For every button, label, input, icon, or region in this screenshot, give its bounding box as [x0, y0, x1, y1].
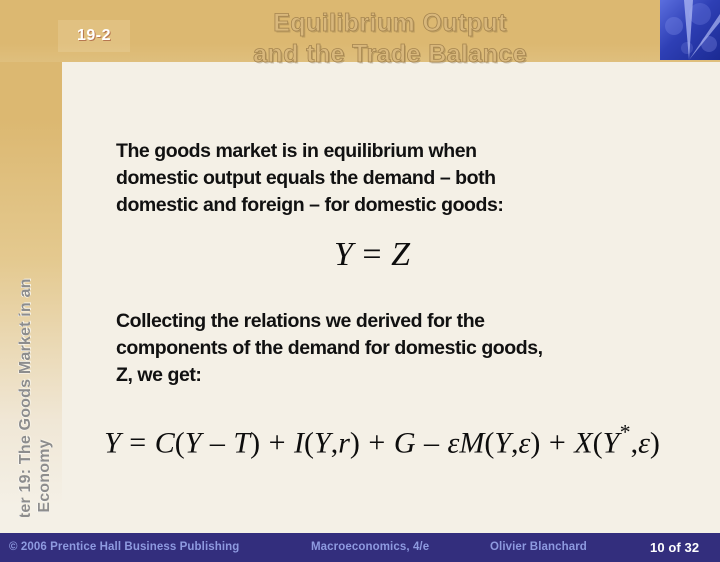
slide-title: Equilibrium Output and the Trade Balance [130, 8, 650, 70]
body-paragraph-1-line-1: The goods market is in equilibrium when [116, 138, 656, 165]
equation-token: ( [593, 426, 603, 459]
slide-number-label: 19-2 [58, 20, 130, 52]
equation-token: r [338, 426, 350, 459]
footer-spacer [0, 517, 720, 533]
equation-token: Y [314, 426, 331, 459]
footer-author: Olivier Blanchard [490, 533, 587, 562]
equation-goods-market-equilibrium: Y = C(Y – T) + I(Y,r) + G – εM(Y,ε) + X(… [62, 420, 702, 460]
equation-token: Y [334, 236, 353, 273]
equation-token: Z [391, 236, 410, 273]
equation-token: – [201, 426, 233, 459]
equation-token: G [394, 426, 416, 459]
equation-token: ε [638, 426, 650, 459]
equation-token: – [416, 426, 448, 459]
presentation-slide: 19-2 Equilibrium Output and the Trade Ba… [0, 0, 720, 562]
equation-token: Y [603, 426, 620, 459]
equation-token: Y [185, 426, 202, 459]
footer-page-number: 10 of 32 [650, 533, 699, 562]
body-paragraph-2-line-1: Collecting the relations we derived for … [116, 308, 656, 335]
slide-number-badge: 19-2 [58, 20, 130, 52]
equation-token: ε [519, 426, 531, 459]
footer-copyright: © 2006 Prentice Hall Business Publishing [9, 533, 239, 562]
slide-title-line-1: Equilibrium Output [130, 8, 650, 39]
body-paragraph-1: The goods market is in equilibrium when … [116, 138, 656, 219]
decorative-blue-square-icon [660, 0, 720, 60]
equation-token: Y [494, 426, 511, 459]
equation-token: ( [304, 426, 314, 459]
equation-token: I [294, 426, 304, 459]
equation-token: ( [484, 426, 494, 459]
equation-token: C [155, 426, 175, 459]
equation-token: = [121, 426, 155, 459]
chapter-sidebar-line-1: Chapter 19: The Goods Market in an [16, 59, 35, 559]
equation-token: + [540, 426, 574, 459]
equation-token: , [631, 426, 639, 459]
equation-token: Y [104, 426, 121, 459]
equation-token: , [511, 426, 519, 459]
body-paragraph-2-line-2: components of the demand for domestic go… [116, 335, 656, 362]
equation-token: + [260, 426, 294, 459]
equation-token: = [353, 236, 391, 273]
body-paragraph-2-line-3: Z, we get: [116, 362, 656, 389]
equation-token: ( [175, 426, 185, 459]
body-paragraph-2: Collecting the relations we derived for … [116, 308, 656, 389]
chapter-sidebar-label: Chapter 19: The Goods Market in an Open … [16, 59, 54, 559]
equation-token: ) [250, 426, 260, 459]
chapter-sidebar-line-2: Open Economy [35, 59, 54, 559]
equation-token: + [360, 426, 394, 459]
equation-token: * [619, 420, 630, 444]
equation-token: T [233, 426, 250, 459]
equation-token: ) [530, 426, 540, 459]
equation-y-equals-z: Y = Z [62, 236, 682, 274]
slide-footer: © 2006 Prentice Hall Business Publishing… [0, 533, 720, 562]
equation-token: ) [650, 426, 660, 459]
equation-token: ) [350, 426, 360, 459]
footer-book-title: Macroeconomics, 4/e [311, 533, 429, 562]
body-paragraph-1-line-3: domestic and foreign – for domestic good… [116, 192, 656, 219]
equation-token: εM [448, 426, 485, 459]
equation-token: X [574, 426, 592, 459]
body-paragraph-1-line-2: domestic output equals the demand – both [116, 165, 656, 192]
slide-title-line-2: and the Trade Balance [130, 39, 650, 70]
